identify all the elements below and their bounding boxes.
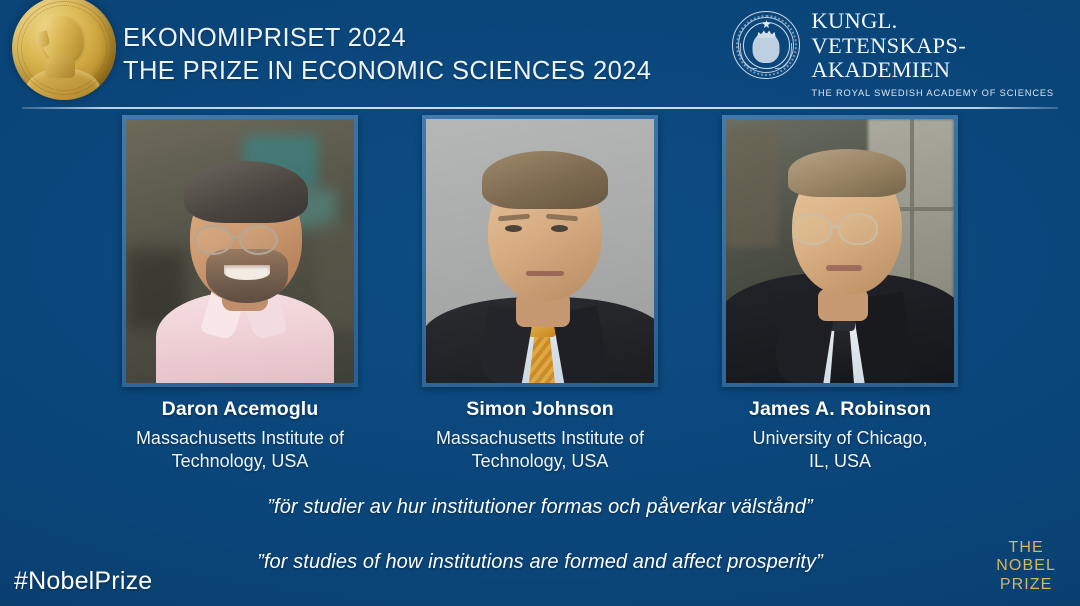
academy-name-line1: KUNGL.: [811, 9, 1054, 34]
laureate-affiliation-line1: Massachusetts Institute of: [403, 427, 677, 450]
laureate-affiliation: University of Chicago, IL, USA: [703, 427, 977, 473]
portrait-eyeglass-right: [838, 213, 878, 245]
portrait-mouth: [224, 265, 270, 280]
hashtag: #NobelPrize: [14, 567, 152, 596]
portrait-background-detail: [316, 219, 354, 329]
laureate-photo-frame: Photo: University of Chicago: [722, 115, 958, 387]
academy-logo: KUNGL. VETENSKAPS- AKADEMIEN THE ROYAL S…: [732, 8, 1054, 98]
header: EKONOMIPRISET 2024 THE PRIZE IN ECONOMIC…: [0, 0, 1080, 108]
nobel-prize-logo: THE NOBEL PRIZE: [996, 539, 1056, 595]
laureate-affiliation-line2: Technology, USA: [103, 450, 377, 473]
laureate-affiliation-line1: Massachusetts Institute of: [103, 427, 377, 450]
portrait-eyeglass-left: [792, 213, 832, 245]
laureate-portrait: Photo: Massachusetts Institute of Techno…: [426, 119, 654, 383]
nobel-logo-line2: NOBEL: [996, 557, 1056, 576]
academy-wordmark: KUNGL. VETENSKAPS- AKADEMIEN THE ROYAL S…: [811, 8, 1054, 98]
laureate-affiliation-line1: University of Chicago,: [703, 427, 977, 450]
header-titles: EKONOMIPRISET 2024 THE PRIZE IN ECONOMIC…: [123, 22, 651, 88]
academy-name-line2: VETENSKAPS-: [811, 34, 1054, 59]
academy-subtitle: THE ROYAL SWEDISH ACADEMY OF SCIENCES: [811, 88, 1054, 98]
portrait-eyeglass-left: [194, 225, 233, 255]
portrait-eyeglass-right: [239, 225, 278, 255]
laureate-name: Daron Acemoglu: [103, 398, 377, 421]
portrait-eyeglass-bridge: [232, 236, 241, 238]
citation-swedish: ”för studier av hur institutioner formas…: [0, 496, 1080, 519]
prize-title-english: THE PRIZE IN ECONOMIC SCIENCES 2024: [123, 55, 651, 88]
laureate-name: James A. Robinson: [703, 398, 977, 421]
portrait-background-detail: [726, 127, 778, 247]
prize-title-swedish: EKONOMIPRISET 2024: [123, 22, 651, 55]
academy-name-line3: AKADEMIEN: [811, 58, 1054, 83]
portrait-mouth: [526, 271, 564, 276]
nobel-prize-announcement-card: EKONOMIPRISET 2024 THE PRIZE IN ECONOMIC…: [0, 0, 1080, 606]
royal-academy-seal-icon: [732, 11, 800, 79]
laureate-affiliation-line2: IL, USA: [703, 450, 977, 473]
medal-rim: [17, 1, 111, 95]
laureate-card: Photo: Massachusetts Institute of Techno…: [403, 115, 677, 473]
laureate-name: Simon Johnson: [403, 398, 677, 421]
laureate-affiliation: Massachusetts Institute of Technology, U…: [103, 427, 377, 473]
laureate-portrait: Photo: Massachusetts Institute of Techno…: [126, 119, 354, 383]
laureate-photo-frame: Photo: Massachusetts Institute of Techno…: [122, 115, 358, 387]
portrait-hair: [184, 161, 308, 223]
nobel-logo-line3: PRIZE: [996, 576, 1056, 595]
laureate-affiliation: Massachusetts Institute of Technology, U…: [403, 427, 677, 473]
laureate-portrait: Photo: University of Chicago: [726, 119, 954, 383]
laureate-photo-frame: Photo: Massachusetts Institute of Techno…: [422, 115, 658, 387]
portrait-eye-right: [551, 225, 568, 232]
header-divider: [22, 107, 1058, 109]
prize-citation: ”för studier av hur institutioner formas…: [0, 496, 1080, 574]
portrait-hair: [788, 149, 906, 197]
laureate-card: Photo: University of Chicago James A. Ro…: [703, 115, 977, 473]
citation-english: ”for studies of how institutions are for…: [0, 551, 1080, 574]
portrait-eye-left: [505, 225, 522, 232]
laureate-affiliation-line2: Technology, USA: [403, 450, 677, 473]
portrait-eyeglass-bridge: [832, 225, 840, 228]
portrait-hair: [482, 151, 608, 209]
laureate-card: Photo: Massachusetts Institute of Techno…: [103, 115, 377, 473]
nobel-logo-line1: THE: [996, 539, 1056, 558]
portrait-mouth: [826, 265, 862, 271]
nobel-medal-icon: [12, 0, 116, 100]
